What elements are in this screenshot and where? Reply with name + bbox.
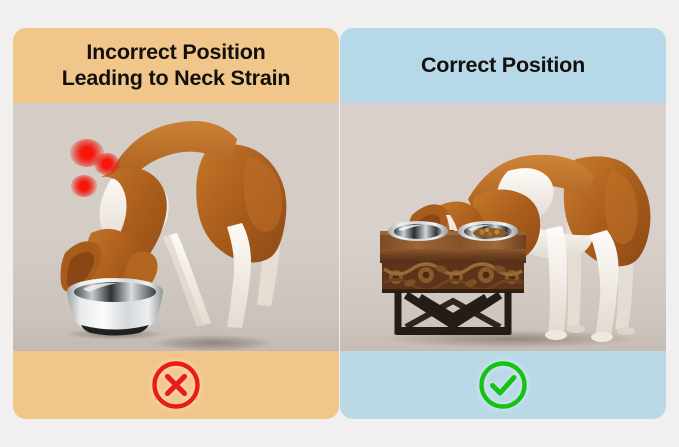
pain-marker-neck-2	[71, 175, 97, 197]
panel-correct-position: Correct Position	[340, 28, 666, 419]
panel-incorrect-position: Incorrect Position Leading to Neck Strai…	[13, 28, 339, 419]
panel-correct-footer	[340, 351, 666, 419]
metal-base	[398, 291, 508, 331]
check-circle-icon	[476, 358, 530, 412]
panel-correct-photo	[340, 103, 666, 351]
panel-incorrect-footer	[13, 351, 339, 419]
elevated-feeder-scene	[340, 103, 666, 351]
comparison-figure: Incorrect Position Leading to Neck Strai…	[0, 0, 679, 447]
panel-incorrect-title-line1: Incorrect Position	[86, 40, 265, 64]
pain-marker-shoulder	[94, 153, 120, 175]
panel-correct-title: Correct Position	[421, 53, 585, 78]
panel-incorrect-title-line2: Leading to Neck Strain	[62, 66, 291, 90]
panel-incorrect-header: Incorrect Position Leading to Neck Strai…	[13, 28, 339, 103]
floor-bowl	[61, 273, 169, 339]
panel-incorrect-title: Incorrect Position Leading to Neck Strai…	[62, 40, 291, 91]
panel-incorrect-photo	[13, 103, 339, 351]
panel-correct-header: Correct Position	[340, 28, 666, 103]
carved-floral-band	[382, 263, 524, 290]
cross-circle-icon	[149, 358, 203, 412]
